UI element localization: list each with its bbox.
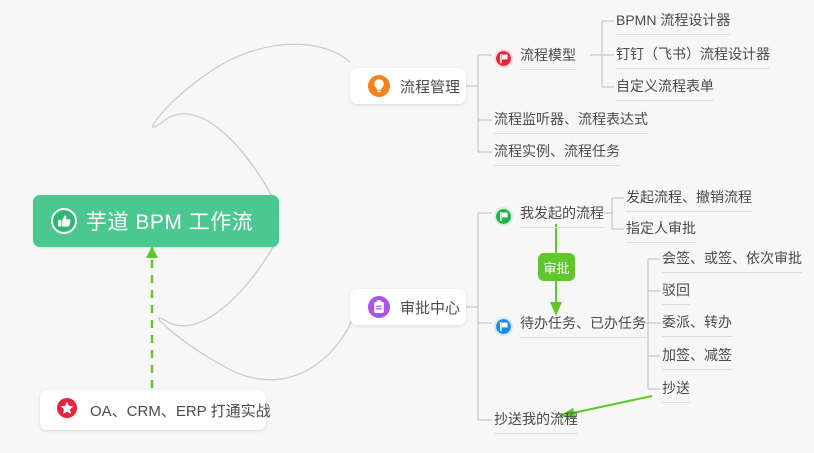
node-label-todo-done-tasks: 待办任务、已办任务 (520, 314, 646, 338)
leaf-assignee-approval[interactable]: 指定人审批 (626, 219, 696, 243)
node-label-approval-center: 审批中心 (400, 297, 460, 318)
leaf-bpmn-designer[interactable]: BPMN 流程设计器 (616, 11, 730, 35)
node-my-started-process[interactable]: 我发起的流程 (494, 204, 604, 228)
leaf-reject[interactable]: 驳回 (662, 281, 690, 305)
node-todo-done-tasks[interactable]: 待办任务、已办任务 (494, 314, 646, 338)
dashed-arrow-to-root (146, 246, 158, 388)
flag-icon (494, 49, 513, 68)
leaf-dingtalk-feishu-designer[interactable]: 钉钉（飞书）流程设计器 (616, 45, 770, 69)
lightbulb-icon (366, 73, 392, 99)
star-icon (56, 397, 82, 423)
leaf-custom-process-form[interactable]: 自定义流程表单 (616, 77, 714, 101)
leaf-process-instance-task[interactable]: 流程实例、流程任务 (494, 142, 620, 166)
leaf-start-cancel-process[interactable]: 发起流程、撤销流程 (626, 188, 752, 212)
leaf-process-listener-expression[interactable]: 流程监听器、流程表达式 (494, 110, 648, 134)
node-process-management[interactable]: 流程管理 (350, 68, 466, 104)
badge-approve-label: 审批 (543, 258, 569, 277)
badge-approve: 审批 (538, 253, 575, 281)
node-label-process-management: 流程管理 (400, 76, 460, 97)
leaf-add-remove-sign[interactable]: 加签、减签 (662, 346, 732, 370)
leaf-cc-to-me-process[interactable]: 抄送我的流程 (494, 410, 578, 434)
leaf-countersign-orsign-sequential[interactable]: 会签、或签、依次审批 (662, 249, 802, 273)
flag-icon (494, 317, 513, 336)
node-label-oa-crm-erp: OA、CRM、ERP 打通实战 (90, 400, 271, 421)
root-label: 芋道 BPM 工作流 (86, 206, 253, 236)
flag-icon (494, 207, 513, 226)
node-process-model[interactable]: 流程模型 (494, 46, 576, 70)
node-approval-center[interactable]: 审批中心 (350, 289, 466, 325)
thumbs-up-icon (51, 208, 77, 234)
node-label-process-model: 流程模型 (520, 46, 576, 70)
node-label-my-started-process: 我发起的流程 (520, 204, 604, 228)
leaf-delegate-transfer[interactable]: 委派、转办 (662, 313, 732, 337)
leaf-cc[interactable]: 抄送 (662, 379, 690, 403)
node-oa-crm-erp[interactable]: OA、CRM、ERP 打通实战 (40, 390, 266, 430)
mindmap-canvas: 芋道 BPM 工作流 流程管理 流程模型 BPMN 流程设计器 钉钉（飞书）流程… (0, 0, 814, 453)
clipboard-icon (366, 294, 392, 320)
root-node[interactable]: 芋道 BPM 工作流 (33, 195, 279, 247)
